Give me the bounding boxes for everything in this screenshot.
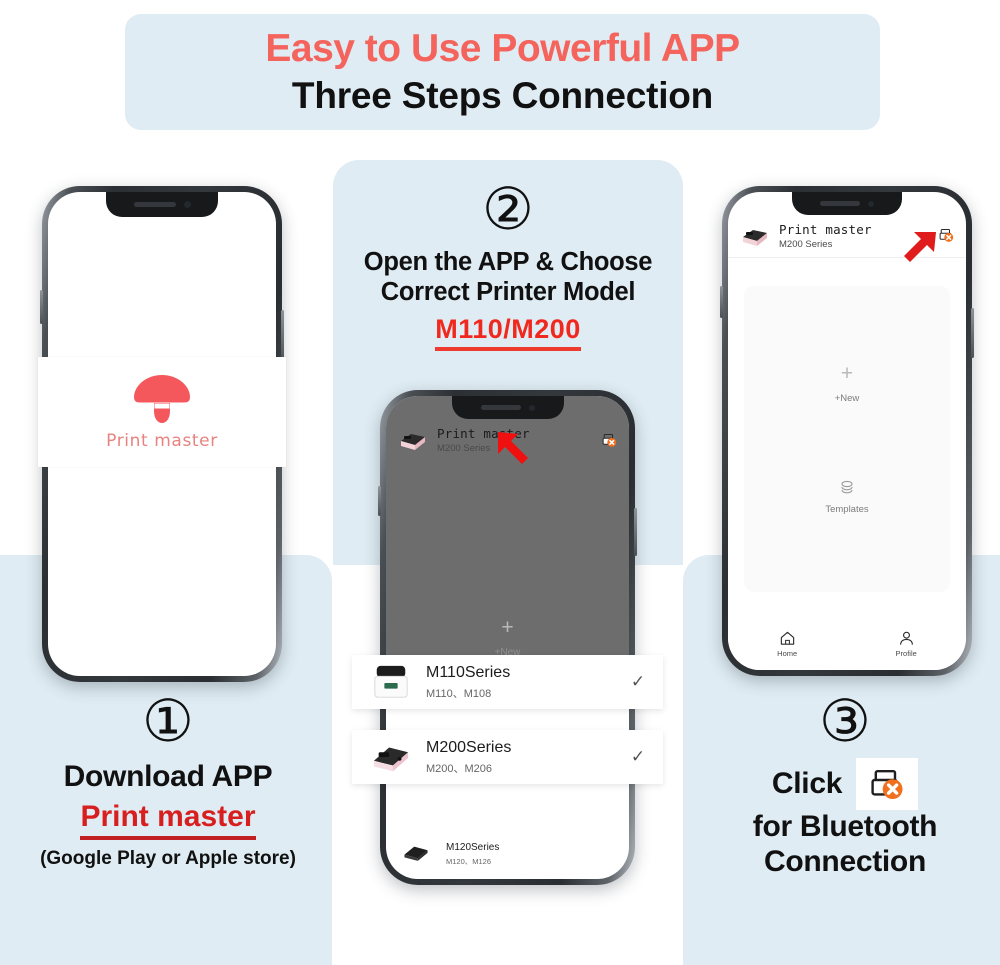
tab-profile[interactable]: Profile <box>896 630 917 658</box>
list-item-text: M200Series M200、M206 <box>426 739 629 776</box>
step-3-number: ③ <box>690 692 1000 750</box>
tab-profile-label: Profile <box>896 649 917 658</box>
printer-model-name: M120Series <box>446 842 499 853</box>
templates-label: Templates <box>825 504 868 515</box>
step-1-caption: ① Download APP Print master (Google Play… <box>8 692 328 871</box>
step-2-title-line-1: Open the APP & Choose <box>338 248 678 278</box>
banner-headline: Easy to Use Powerful APP <box>265 27 739 71</box>
step-2-caption: ② Open the APP & Choose Correct Printer … <box>338 180 678 351</box>
volume-button[interactable] <box>378 486 381 516</box>
speaker-grille-icon <box>820 201 860 206</box>
step-2-highlight: M110/M200 <box>435 313 581 350</box>
templates-icon <box>839 479 855 495</box>
tab-home[interactable]: Home <box>777 630 797 658</box>
step-1-title: Download APP <box>8 760 328 795</box>
printer-p1000-icon <box>398 877 434 879</box>
printer-model-sub: M200、M206 <box>426 760 629 776</box>
list-item-text: P1000Series P1000 <box>446 878 599 879</box>
red-arrow-up-left-icon <box>494 428 536 470</box>
printer-icon <box>398 428 428 452</box>
new-label: +New <box>835 393 860 404</box>
phone-notch <box>452 396 564 419</box>
list-item[interactable]: M120Series M120、M126 <box>386 832 629 872</box>
step-2-number: ② <box>338 180 678 238</box>
banner-subheadline: Three Steps Connection <box>292 74 713 118</box>
list-item-m110-highlighted[interactable]: M110Series M110、M108 ✓ <box>352 655 663 709</box>
red-arrow-up-right-icon <box>898 228 940 270</box>
volume-button[interactable] <box>720 286 723 318</box>
check-icon: ✓ <box>629 747 647 767</box>
infographic-root: Easy to Use Powerful APP Three Steps Con… <box>0 0 1000 965</box>
power-button[interactable] <box>281 310 284 362</box>
phone-notch <box>106 192 218 217</box>
list-item[interactable]: P1000Series P1000 <box>386 872 629 879</box>
speaker-grille-icon <box>481 405 521 410</box>
front-camera-icon <box>184 201 191 208</box>
printer-bluetooth-disconnected-icon[interactable] <box>939 228 954 243</box>
home-content-card: + +New Templates <box>744 286 950 592</box>
phone-notch <box>792 192 902 215</box>
bluetooth-icon-chip <box>856 758 918 810</box>
step-1-highlight: Print master <box>80 799 255 840</box>
header-banner: Easy to Use Powerful APP Three Steps Con… <box>125 14 880 130</box>
printer-model-list: D30Series M120S <box>386 698 629 879</box>
new-label-button[interactable]: + +New <box>835 363 860 404</box>
plus-icon: + <box>841 363 853 384</box>
tab-home-label: Home <box>777 649 797 658</box>
volume-button[interactable] <box>40 290 43 324</box>
power-button[interactable] <box>971 308 974 358</box>
printer-m200-icon <box>368 738 414 776</box>
printer-icon <box>740 224 770 248</box>
printer-m110-icon <box>368 663 414 701</box>
front-camera-icon <box>529 405 535 411</box>
home-icon <box>779 630 796 647</box>
templates-button[interactable]: Templates <box>825 479 868 515</box>
check-icon: ✓ <box>629 672 647 692</box>
step-3-click-word: Click <box>772 767 842 802</box>
printer-model-sub: M120、M126 <box>446 856 599 867</box>
step-3-line-2: for Bluetooth <box>690 810 1000 845</box>
list-item-text: M120Series M120、M126 <box>446 837 599 867</box>
plus-icon: + <box>501 617 513 638</box>
step-3-caption: ③ Click for Bluetooth Connection <box>690 692 1000 880</box>
step-3-click-row: Click <box>690 758 1000 810</box>
step-2-title-line-2: Correct Printer Model <box>338 278 678 308</box>
app-logo-band: Print master <box>38 357 286 467</box>
step-1-number: ① <box>8 692 328 750</box>
step-1-note: (Google Play or Apple store) <box>8 848 328 871</box>
printer-m120-icon <box>398 837 434 867</box>
person-icon <box>898 630 915 647</box>
power-button[interactable] <box>634 508 637 556</box>
step-3-line-3: Connection <box>690 845 1000 880</box>
front-camera-icon <box>868 201 874 207</box>
list-item-m200-highlighted[interactable]: M200Series M200、M206 ✓ <box>352 730 663 784</box>
app-logo-label: Print master <box>106 431 218 451</box>
printer-bluetooth-disconnected-icon[interactable] <box>602 433 617 448</box>
mushroom-logo-icon <box>130 373 194 425</box>
printer-model-sub: M110、M108 <box>426 685 629 701</box>
list-item-spacer <box>386 780 629 832</box>
printer-bluetooth-disconnected-icon <box>869 768 905 800</box>
printer-model-name: M200Series <box>426 739 511 756</box>
list-item-text: M110Series M110、M108 <box>426 664 629 701</box>
speaker-grille-icon <box>134 202 176 207</box>
bottom-tab-bar: Home Profile <box>728 618 966 670</box>
printer-model-name: M110Series <box>426 664 510 681</box>
